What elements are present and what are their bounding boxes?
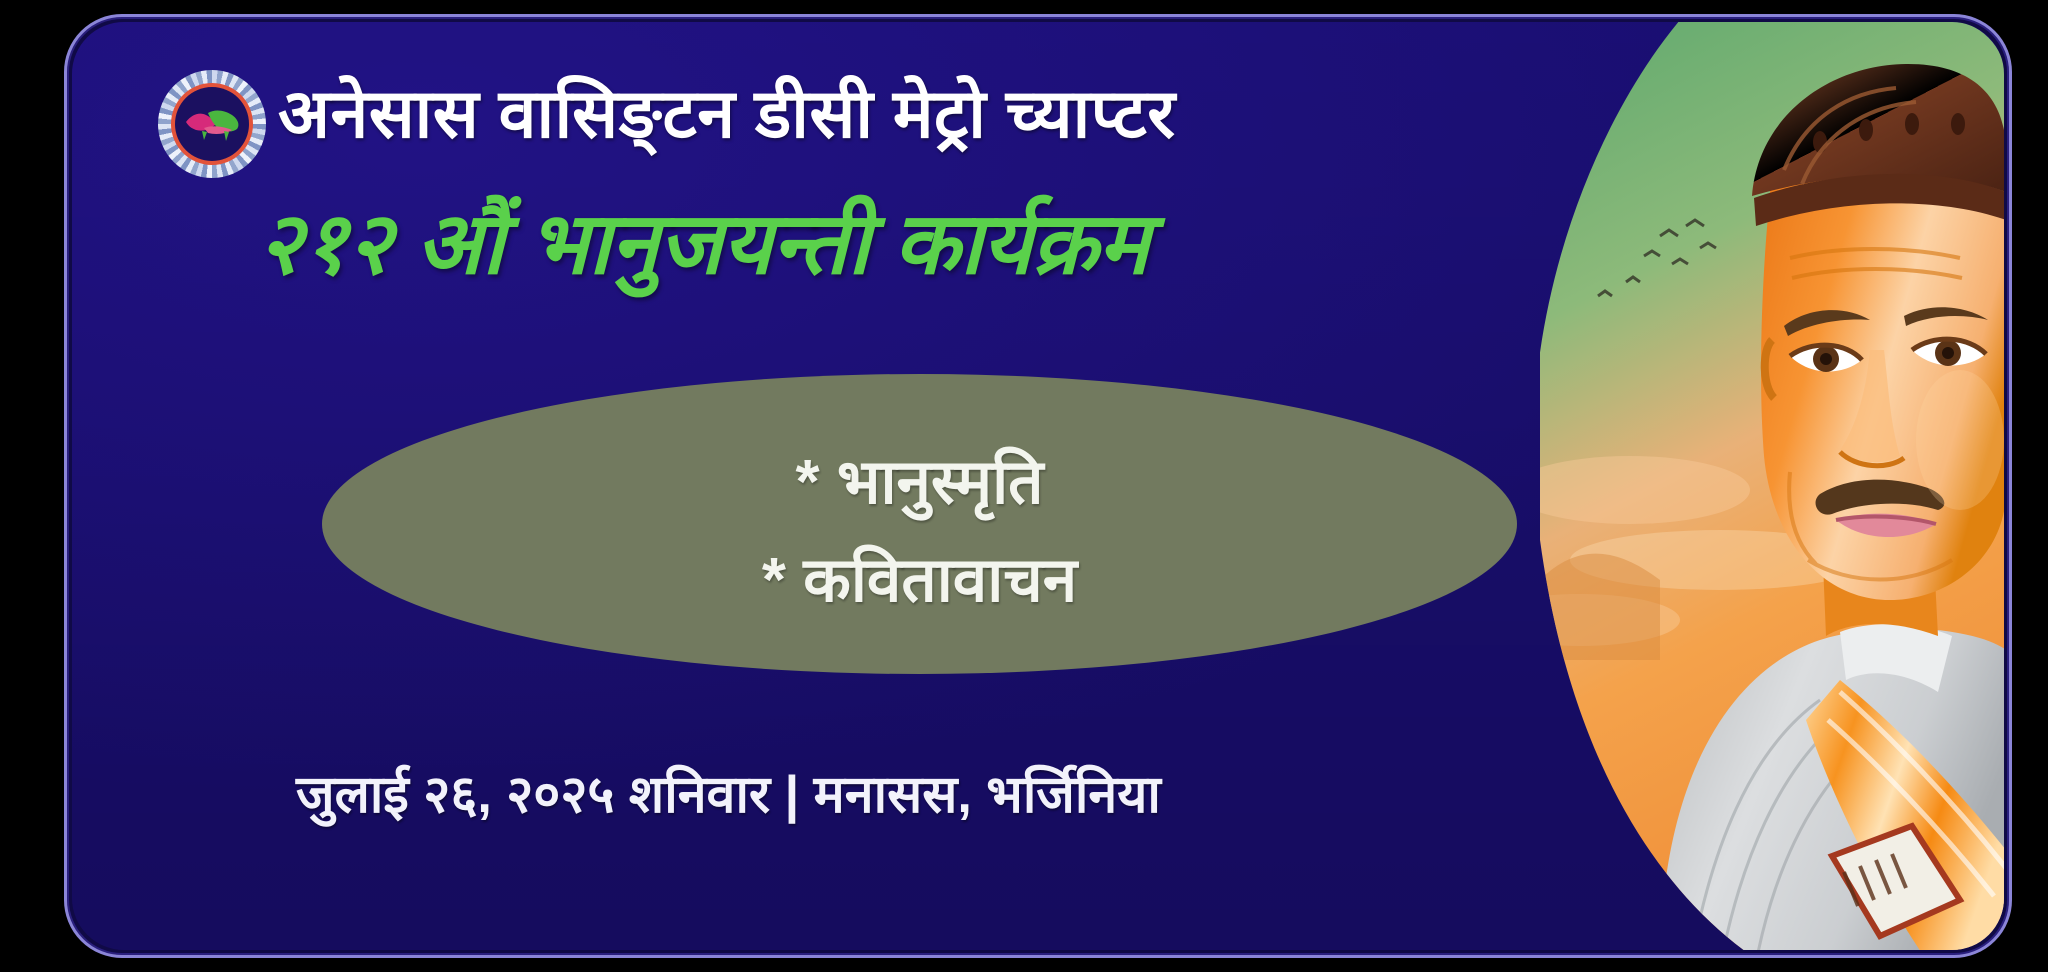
organization-title: अनेसास वासिङ्टन डीसी मेट्रो च्याप्टर bbox=[278, 64, 1528, 157]
program-list: * भानुस्मृति * कवितावाचन bbox=[322, 394, 1517, 664]
poster-canvas: अनेसास वासिङ्टन डीसी मेट्रो च्याप्टर २१२… bbox=[0, 0, 2048, 972]
logo-map-icon bbox=[184, 104, 242, 144]
portrait-illustration bbox=[1540, 22, 2004, 950]
bhanubhakta-acharya-portrait bbox=[1540, 22, 2004, 950]
anesas-emblem-logo bbox=[158, 70, 266, 178]
poster-card-frame: अनेसास वासिङ्टन डीसी मेट्रो च्याप्टर २१२… bbox=[64, 14, 2012, 958]
program-item: * कवितावाचन bbox=[762, 536, 1077, 620]
date-venue-line: जुलाई २६, २०२५ शनिवार | मनासस, भर्जिनिया bbox=[296, 757, 1161, 828]
program-item: * भानुस्मृति bbox=[796, 438, 1044, 522]
poster-card-body: अनेसास वासिङ्टन डीसी मेट्रो च्याप्टर २१२… bbox=[72, 22, 2004, 950]
event-heading: २१२ औं भानुजयन्ती कार्यक्रम bbox=[258, 182, 1588, 299]
